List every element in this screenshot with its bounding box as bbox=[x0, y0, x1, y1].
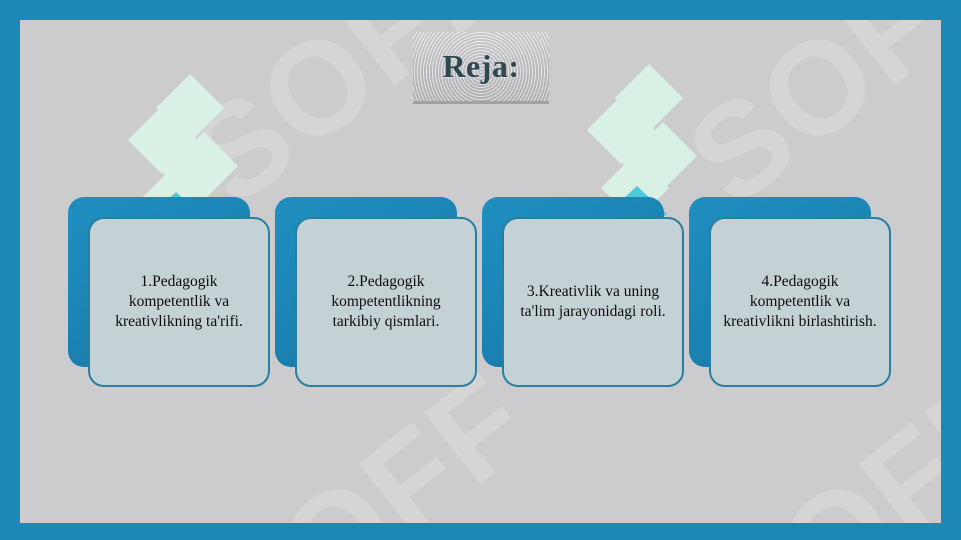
card-face[interactable]: 4.Pedagogik kompetentlik va kreativlikni… bbox=[709, 217, 891, 387]
presentation-slide: SOFF SOFF SOFF SOFF bbox=[0, 0, 961, 540]
card-face[interactable]: 1.Pedagogik kompetentlik va kreativlikni… bbox=[88, 217, 270, 387]
card-text: 4.Pedagogik kompetentlik va kreativlikni… bbox=[720, 272, 880, 331]
topics-list: 1.Pedagogik kompetentlik va kreativlikni… bbox=[20, 20, 941, 523]
list-item[interactable]: 2.Pedagogik kompetentlikning tarkibiy qi… bbox=[275, 197, 477, 397]
list-item[interactable]: 3.Kreativlik va uning ta'lim jarayonidag… bbox=[482, 197, 684, 397]
card-text: 2.Pedagogik kompetentlikning tarkibiy qi… bbox=[306, 272, 466, 331]
list-item[interactable]: 1.Pedagogik kompetentlik va kreativlikni… bbox=[68, 197, 270, 397]
card-face[interactable]: 2.Pedagogik kompetentlikning tarkibiy qi… bbox=[295, 217, 477, 387]
card-text: 3.Kreativlik va uning ta'lim jarayonidag… bbox=[513, 282, 673, 321]
card-text: 1.Pedagogik kompetentlik va kreativlikni… bbox=[99, 272, 259, 331]
card-face[interactable]: 3.Kreativlik va uning ta'lim jarayonidag… bbox=[502, 217, 684, 387]
slide-content-area: SOFF SOFF SOFF SOFF bbox=[20, 20, 941, 523]
list-item[interactable]: 4.Pedagogik kompetentlik va kreativlikni… bbox=[689, 197, 891, 397]
